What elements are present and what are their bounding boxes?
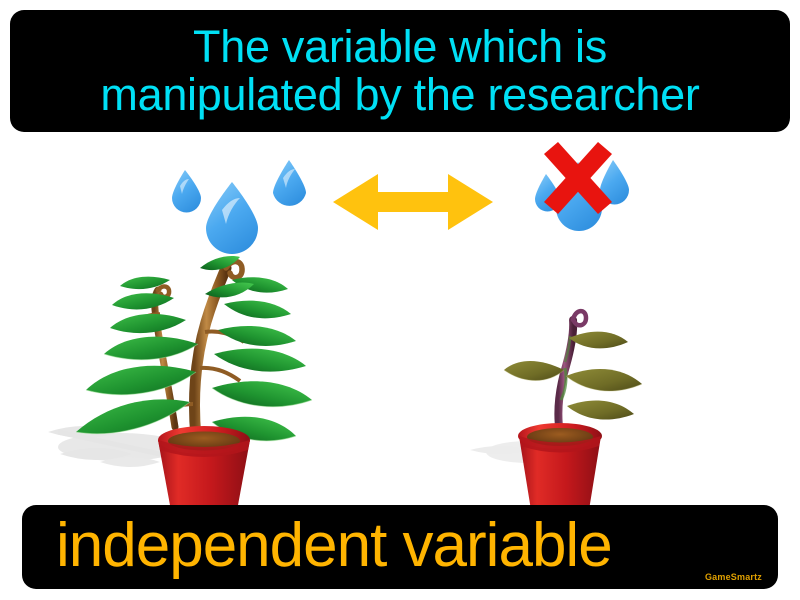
term-label: independent variable: [56, 515, 612, 577]
gamesmartz-watermark: GameSmartz: [705, 572, 762, 582]
illustration-area: [0, 132, 800, 507]
definition-banner: The variable which is manipulated by the…: [10, 10, 790, 132]
left-plant-pot: [158, 426, 250, 507]
term-banner: independent variable GameSmartz: [22, 505, 778, 589]
right-plant-pot: [518, 423, 602, 507]
water-drops-present: [172, 160, 306, 254]
water-drops-absent: [535, 142, 629, 231]
illustration-svg: [0, 132, 800, 507]
double-headed-arrow-glyph: [333, 174, 493, 230]
wilted-plant: [504, 311, 642, 507]
definition-text: The variable which is manipulated by the…: [100, 23, 699, 118]
flashcard-definition-image: The variable which is manipulated by the…: [0, 0, 800, 600]
healthy-plant: [76, 256, 312, 507]
